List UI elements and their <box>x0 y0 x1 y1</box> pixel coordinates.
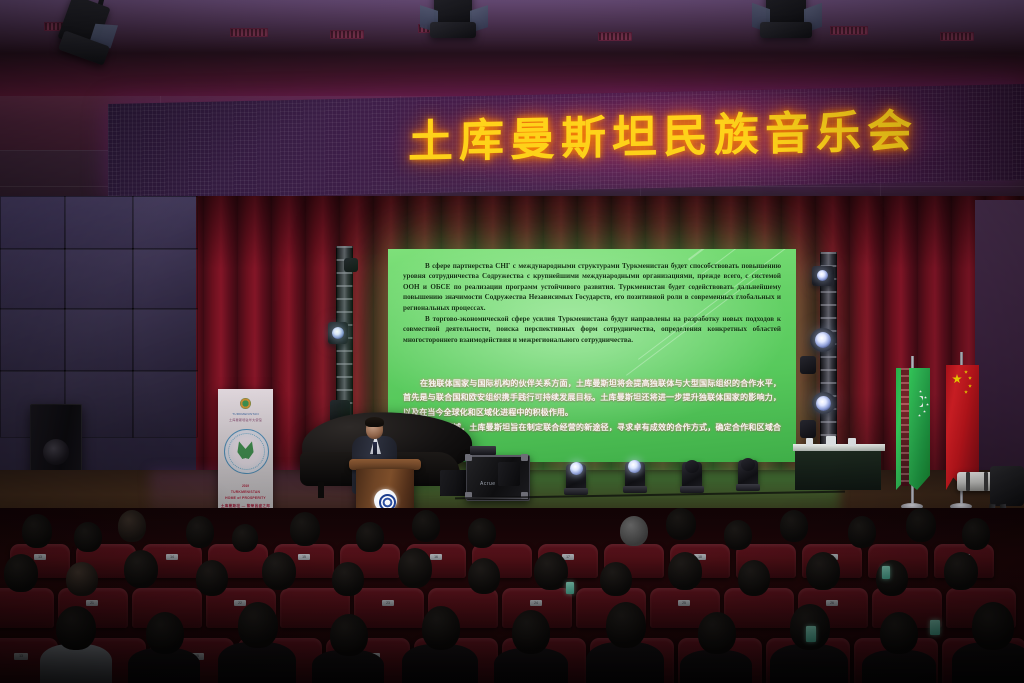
audience-head <box>962 518 990 550</box>
audience-head <box>668 552 702 590</box>
lens-ring <box>966 472 970 491</box>
flight-case-corner <box>465 454 472 461</box>
audience-head <box>422 606 460 650</box>
audience-head <box>4 554 38 592</box>
audience-head <box>534 552 568 590</box>
moving-light-lens <box>628 460 641 473</box>
audience-head <box>146 612 184 654</box>
ceiling-vent <box>830 26 868 35</box>
audience-head <box>880 612 918 654</box>
audience-head <box>238 602 278 648</box>
audience-head <box>232 524 258 552</box>
led-banner: 土库曼斯坦民族音乐会 <box>108 84 1024 200</box>
moving-light-base <box>680 486 704 493</box>
audience-head <box>606 602 646 648</box>
audience-head <box>944 552 978 590</box>
moving-light-base <box>623 486 647 493</box>
moving-light <box>812 392 836 414</box>
stage-monitor <box>498 462 520 486</box>
ceiling-vent <box>940 32 974 41</box>
moving-light-lens <box>570 462 583 475</box>
audience-head <box>512 610 550 654</box>
audience-head <box>66 562 98 596</box>
turkmenistan-flag-carpet-stripe <box>901 368 909 486</box>
table-item <box>826 436 836 445</box>
flight-case-label: Acrue <box>480 481 496 487</box>
seat-number-plate: 14 <box>166 554 178 560</box>
audience-head <box>848 516 876 548</box>
audience-head <box>124 550 158 588</box>
seat-number-plate: 26 <box>826 600 838 606</box>
phone-screen <box>806 626 816 642</box>
audience-head <box>906 508 936 542</box>
audience-head <box>806 552 840 590</box>
audience-shoulders <box>862 650 936 683</box>
audience-head <box>468 558 500 594</box>
phone-screen <box>930 620 940 635</box>
seat-number-plate: 13 <box>14 653 28 660</box>
audience-shoulders <box>218 642 296 683</box>
audience-head <box>330 614 368 656</box>
audience-head <box>698 612 736 654</box>
table-item <box>848 438 856 446</box>
seat-number-plate: 22 <box>234 600 246 606</box>
seat-number-plate: 25 <box>678 600 690 606</box>
seat-number-plate: 15 <box>298 554 310 560</box>
rollup-shading <box>218 389 273 521</box>
audience-seating: 13 14 15 16 17 18 19 20 21 22 23 24 25 2… <box>0 508 1024 683</box>
moving-light <box>800 420 816 438</box>
audience-shoulders <box>586 642 664 683</box>
audience-head <box>356 522 384 552</box>
led-banner-text: 土库曼斯坦民族音乐会 <box>408 98 1008 173</box>
stage-side-table <box>795 448 881 490</box>
audience-head <box>468 518 496 548</box>
table-item <box>806 438 813 446</box>
audience-head <box>74 522 102 552</box>
moving-light <box>344 258 358 272</box>
audience-head <box>262 552 296 590</box>
camera-body <box>990 466 1024 506</box>
phone-screen <box>566 582 574 594</box>
audience-head <box>290 512 320 546</box>
audience-head <box>666 508 696 540</box>
audience-head <box>600 562 632 596</box>
crescent-icon <box>912 396 923 407</box>
speaker-hair <box>365 417 384 427</box>
piano-leg <box>318 482 324 498</box>
audience-head <box>196 560 228 596</box>
audience-head <box>118 510 146 542</box>
slide-ru-p2: В торгово-экономической сфере усилия Тур… <box>403 314 781 345</box>
audience-head <box>972 602 1014 650</box>
speaker-tie <box>373 442 377 455</box>
ceiling-vent <box>230 28 268 37</box>
audience-head <box>780 510 808 542</box>
seat-number-plate: 16 <box>430 554 442 560</box>
audience-head <box>876 560 908 596</box>
slide-zh-p1: 在独联体国家与国际机构的伙伴关系方面，土库曼斯坦将会提高独联体与大型国际组织的合… <box>403 377 781 420</box>
audience-head <box>56 606 96 650</box>
audience-head <box>332 562 364 596</box>
audience-head <box>724 520 752 550</box>
laptop-on-case <box>470 446 496 455</box>
seat <box>0 588 54 628</box>
phone-screen <box>882 566 890 579</box>
auditorium-photo: 土库曼斯坦民族音乐会 <box>0 0 1024 683</box>
flight-case-corner <box>521 454 528 461</box>
seat-number-plate: 13 <box>34 554 46 560</box>
audience-head <box>620 516 648 546</box>
ceiling-vent <box>598 32 632 41</box>
moving-light <box>328 322 348 344</box>
lens-ring <box>984 472 988 491</box>
audience-head <box>186 516 214 548</box>
audience-head <box>22 514 52 548</box>
audience-head <box>412 510 440 542</box>
stage-monitor <box>440 470 468 496</box>
seat-number-plate: 24 <box>530 600 542 606</box>
rollup-banner: TURKMENISTAN 土库曼斯坦驻华大使馆 2019 TURKMENISTA… <box>218 389 273 521</box>
slide-russian-text: В сфере партнерства СНГ с международными… <box>403 261 781 346</box>
slide-ru-p1: В сфере партнерства СНГ с международными… <box>403 261 781 313</box>
moving-light-base <box>564 488 588 495</box>
seat-number-plate: 23 <box>382 600 394 606</box>
moving-light-base <box>736 484 760 491</box>
moving-light <box>800 356 816 374</box>
audience-head <box>738 560 770 596</box>
seat-number-plate: 21 <box>86 600 98 606</box>
audience-head <box>398 548 432 588</box>
ceiling-vent <box>330 30 364 39</box>
audience-shoulders <box>680 650 752 683</box>
moving-light <box>812 266 834 286</box>
moving-light <box>810 328 836 352</box>
